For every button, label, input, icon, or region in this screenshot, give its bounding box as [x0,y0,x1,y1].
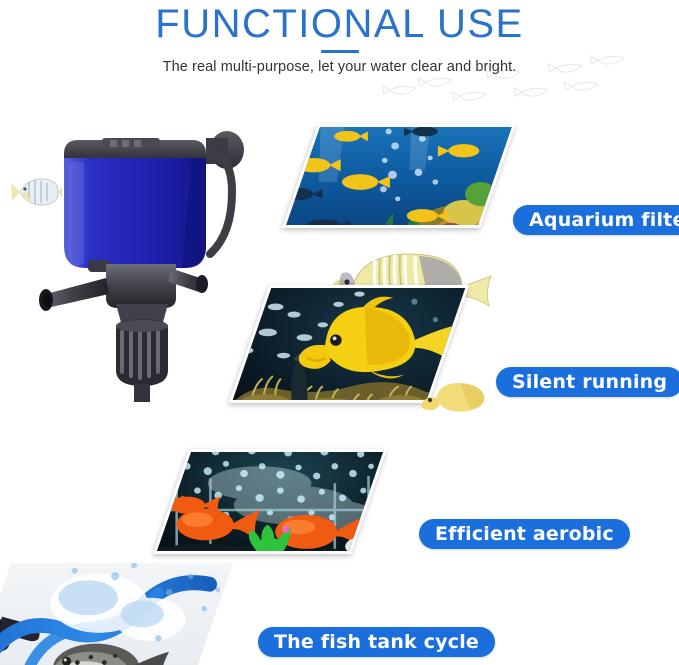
yellow-tang-bottom-icon [420,378,490,416]
header: FUNCTIONAL USE The real multi-purpose, l… [0,0,679,110]
page-title: FUNCTIONAL USE [0,2,679,46]
feature-photo-fish-tank-cycle [0,563,233,665]
badge-aquarium-filter[interactable]: Aquarium filter [513,205,679,235]
badge-fish-tank-cycle[interactable]: The fish tank cycle [258,627,495,657]
angelfish-left-icon [8,168,62,216]
feature-photo-efficient-aerobic [153,449,387,554]
badge-silent-running[interactable]: Silent running [496,367,679,397]
feature-photo-aquarium-filter [282,124,516,228]
page-subtitle: The real multi-purpose, let your water c… [0,59,679,75]
infographic-canvas: FUNCTIONAL USE The real multi-purpose, l… [0,0,679,665]
title-divider [321,50,359,53]
badge-efficient-aerobic[interactable]: Efficient aerobic [419,519,630,549]
product-image-submersible-pump [10,112,270,402]
